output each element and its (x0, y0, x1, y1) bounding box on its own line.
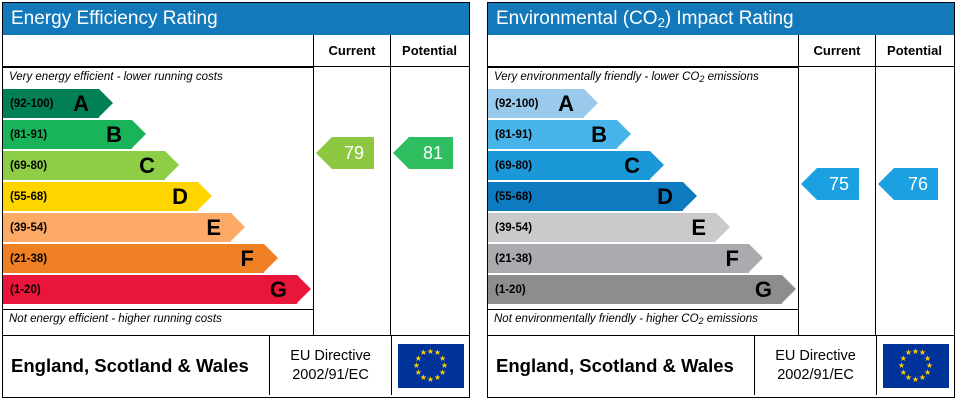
co2-directive-line1: EU Directive (775, 347, 856, 365)
energy-potential-rating-value: 81 (423, 143, 443, 164)
co2-caption-bottom-sub: 2 (699, 316, 704, 326)
energy-band-letter-f: F (241, 248, 254, 270)
energy-band-list: (92-100)A(81-91)B(69-80)C(55-68)D(39-54)… (3, 87, 313, 309)
energy-current-header: Current (313, 35, 390, 66)
co2-band-letter-d: D (657, 186, 673, 208)
co2-band-range-f: (21-38) (488, 253, 532, 265)
eu-star-icon: ★ (414, 369, 422, 377)
energy-band-range-g: (1-20) (3, 284, 41, 296)
energy-band-d: (55-68)D (3, 182, 198, 211)
energy-caption-top: Very energy efficient - lower running co… (3, 67, 313, 87)
energy-band-letter-d: D (172, 186, 188, 208)
energy-band-c: (69-80)C (3, 151, 165, 180)
co2-potential-value-column: 76 (875, 67, 953, 335)
co2-current-rating-marker: 75 (817, 168, 859, 200)
eu-flag-icon: ★★★★★★★★★★★★ (398, 344, 464, 388)
energy-band-tip-a (99, 89, 113, 117)
energy-band-tip-c (165, 151, 179, 179)
co2-title-prefix: Environmental (CO (496, 8, 658, 29)
eu-flag-icon: ★★★★★★★★★★★★ (883, 344, 949, 388)
co2-band-range-e: (39-54) (488, 222, 532, 234)
energy-band-range-f: (21-38) (3, 253, 47, 265)
co2-band-letter-c: C (624, 155, 640, 177)
co2-potential-rating-arrow-body: 76 (894, 168, 938, 200)
co2-band-range-c: (69-80) (488, 160, 532, 172)
energy-footer-directive: EU Directive 2002/91/EC (269, 336, 391, 395)
co2-potential-rating-marker: 76 (894, 168, 938, 200)
energy-current-value-column: 79 (313, 67, 390, 335)
energy-band-range-a: (92-100) (3, 98, 53, 110)
co2-band-tip-a (584, 89, 598, 117)
energy-band-letter-b: B (106, 124, 122, 146)
eu-star-icon: ★ (420, 349, 428, 357)
eu-star-icon: ★ (413, 362, 421, 370)
energy-band-tip-e (231, 213, 245, 241)
co2-directive-line2: 2002/91/EC (777, 366, 854, 384)
energy-band-tip-f (264, 244, 278, 272)
eu-star-icon: ★ (427, 376, 435, 384)
co2-band-a: (92-100)A (488, 89, 584, 118)
co2-caption-top-suffix: emissions (704, 71, 758, 83)
co2-caption-top: Very environmentally friendly - lower CO… (488, 67, 798, 87)
co2-current-rating-arrow-body: 75 (817, 168, 859, 200)
co2-caption-bottom-suffix: emissions (704, 313, 758, 325)
co2-band-f: (21-38)F (488, 244, 749, 273)
co2-band-letter-a: A (558, 93, 574, 115)
eu-star-icon: ★ (898, 362, 906, 370)
co2-chart-body: Very environmentally friendly - lower CO… (488, 67, 954, 335)
energy-band-range-b: (81-91) (3, 129, 47, 141)
co2-potential-rating-arrow-head (878, 168, 894, 200)
co2-band-letter-f: F (726, 248, 739, 270)
co2-footer-directive: EU Directive 2002/91/EC (754, 336, 876, 395)
energy-band-g: (1-20)G (3, 275, 297, 304)
co2-band-e: (39-54)E (488, 213, 716, 242)
energy-band-letter-c: C (139, 155, 155, 177)
energy-band-tip-d (198, 182, 212, 210)
energy-potential-rating-arrow-body: 81 (409, 137, 453, 169)
co2-header-spacer (488, 35, 798, 68)
energy-band-range-c: (69-80) (3, 160, 47, 172)
co2-band-d: (55-68)D (488, 182, 683, 211)
eu-star-icon: ★ (434, 374, 442, 382)
energy-current-rating-arrow-head (316, 137, 332, 169)
co2-title-suffix: ) Impact Rating (665, 8, 794, 29)
energy-band-letter-a: A (73, 93, 89, 115)
co2-band-tip-d (683, 182, 697, 210)
energy-band-b: (81-91)B (3, 120, 132, 149)
environmental-impact-rating-chart: Environmental (CO2) Impact Rating Curren… (487, 2, 955, 398)
co2-band-range-g: (1-20) (488, 284, 526, 296)
co2-band-g: (1-20)G (488, 275, 782, 304)
co2-title-sub: 2 (658, 15, 665, 30)
energy-band-range-d: (55-68) (3, 191, 47, 203)
co2-caption-top-prefix: Very environmentally friendly - lower CO (494, 71, 699, 83)
co2-band-range-a: (92-100) (488, 98, 538, 110)
co2-current-rating-value: 75 (829, 174, 849, 195)
energy-potential-rating-marker: 81 (409, 137, 453, 169)
co2-band-list: (92-100)A(81-91)B(69-80)C(55-68)D(39-54)… (488, 87, 798, 309)
energy-band-tip-g (297, 275, 311, 303)
co2-potential-rating-value: 76 (908, 174, 928, 195)
energy-band-letter-g: G (270, 279, 287, 301)
co2-caption-top-sub: 2 (699, 74, 704, 84)
epc-charts-page: Energy Efficiency Rating Current Potenti… (0, 0, 957, 404)
energy-band-letter-e: E (206, 217, 221, 239)
energy-band-e: (39-54)E (3, 213, 231, 242)
energy-footer-region: England, Scotland & Wales (3, 336, 269, 395)
co2-caption-bottom-prefix: Not environmentally friendly - higher CO (494, 313, 699, 325)
energy-directive-line1: EU Directive (290, 347, 371, 365)
energy-potential-header: Potential (390, 35, 468, 66)
co2-current-rating-arrow-head (801, 168, 817, 200)
energy-band-f: (21-38)F (3, 244, 264, 273)
co2-band-tip-b (617, 120, 631, 148)
co2-band-letter-g: G (755, 279, 772, 301)
eu-star-icon: ★ (899, 369, 907, 377)
energy-potential-rating-arrow-head (393, 137, 409, 169)
co2-band-tip-g (782, 275, 796, 303)
energy-band-range-e: (39-54) (3, 222, 47, 234)
energy-chart-title: Energy Efficiency Rating (3, 3, 469, 35)
eu-star-icon: ★ (912, 376, 920, 384)
energy-potential-value-column: 81 (390, 67, 468, 335)
co2-band-range-b: (81-91) (488, 129, 532, 141)
energy-current-rating-arrow-body: 79 (332, 137, 374, 169)
energy-band-tip-b (132, 120, 146, 148)
eu-star-icon: ★ (919, 374, 927, 382)
energy-efficiency-rating-chart: Energy Efficiency Rating Current Potenti… (2, 2, 470, 398)
co2-band-tip-f (749, 244, 763, 272)
co2-footer-flag: ★★★★★★★★★★★★ (876, 336, 954, 395)
co2-current-header: Current (798, 35, 875, 66)
energy-chart-header-row: Current Potential (3, 35, 469, 67)
energy-directive-line2: 2002/91/EC (292, 366, 369, 384)
co2-band-tip-e (716, 213, 730, 241)
co2-band-letter-e: E (691, 217, 706, 239)
energy-chart-body: Very energy efficient - lower running co… (3, 67, 469, 335)
co2-current-value-column: 75 (798, 67, 875, 335)
co2-footer-region: England, Scotland & Wales (488, 336, 754, 395)
energy-caption-bottom: Not energy efficient - higher running co… (3, 309, 313, 329)
co2-bands-column: Very environmentally friendly - lower CO… (488, 67, 798, 335)
co2-chart-header-row: Current Potential (488, 35, 954, 67)
co2-band-c: (69-80)C (488, 151, 650, 180)
co2-chart-title: Environmental (CO2) Impact Rating (488, 3, 954, 35)
co2-band-range-d: (55-68) (488, 191, 532, 203)
energy-band-a: (92-100)A (3, 89, 99, 118)
energy-current-rating-marker: 79 (332, 137, 374, 169)
energy-chart-footer: England, Scotland & Wales EU Directive 2… (3, 335, 469, 395)
co2-caption-bottom: Not environmentally friendly - higher CO… (488, 309, 798, 329)
co2-chart-footer: England, Scotland & Wales EU Directive 2… (488, 335, 954, 395)
co2-band-b: (81-91)B (488, 120, 617, 149)
energy-header-spacer (3, 35, 313, 68)
eu-star-icon: ★ (905, 349, 913, 357)
co2-band-tip-c (650, 151, 664, 179)
energy-bands-column: Very energy efficient - lower running co… (3, 67, 313, 335)
energy-current-rating-value: 79 (344, 143, 364, 164)
co2-potential-header: Potential (875, 35, 953, 66)
co2-band-letter-b: B (591, 124, 607, 146)
energy-footer-flag: ★★★★★★★★★★★★ (391, 336, 469, 395)
